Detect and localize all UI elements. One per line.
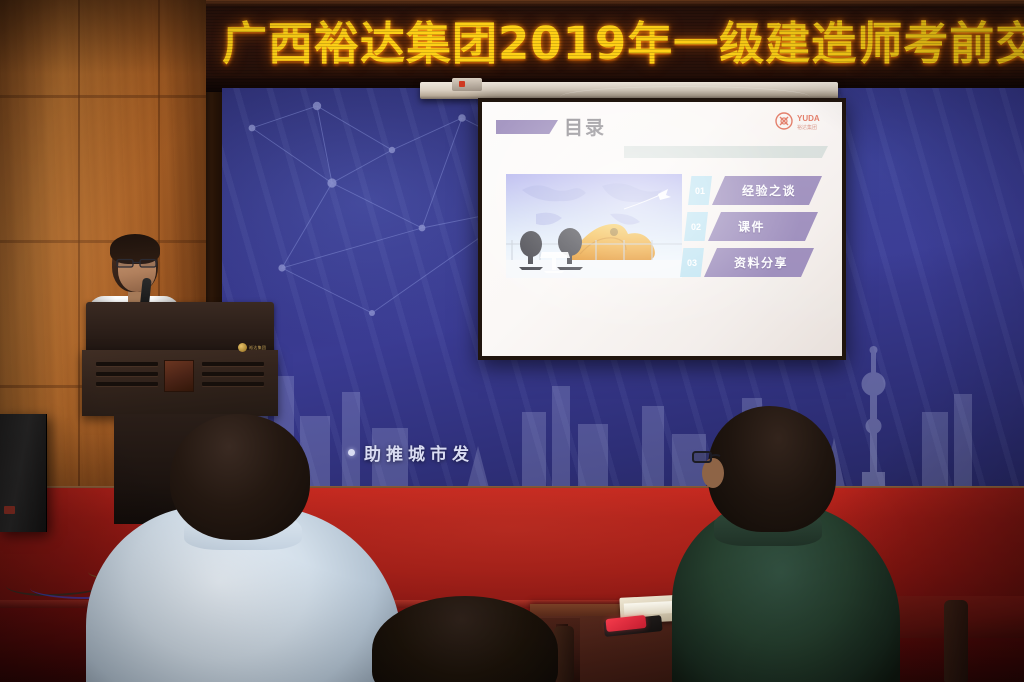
- attendee-right-head: [708, 406, 836, 532]
- led-banner: 广西裕达集团2019年一级建造师考前交流: [206, 0, 1024, 92]
- attendee-center: [372, 596, 558, 682]
- led-banner-text: 广西裕达集团2019年一级建造师考前交流: [222, 5, 1024, 83]
- attendee-left-head: [170, 414, 310, 540]
- slide-toc-item: 03 资料分享: [680, 248, 814, 277]
- slide-toc-item-label: 资料分享: [704, 248, 814, 277]
- slide-decorative-band: [624, 146, 828, 158]
- attendee-left: [86, 414, 402, 682]
- loudspeaker-cabinet: [0, 414, 47, 532]
- podium-emblem-mark-icon: [238, 343, 247, 352]
- attendee-right: [672, 406, 902, 682]
- loudspeaker-badge: [4, 506, 15, 514]
- projection-screen: 目录 YUDA 裕达集团: [478, 98, 846, 360]
- slide-title-accent-bar: [496, 120, 558, 134]
- slide-toc-item-label: 经验之谈: [712, 176, 822, 205]
- svg-text:裕达集团: 裕达集团: [797, 124, 817, 131]
- slide-toc-item-number: 03: [680, 248, 704, 277]
- screen-control-box[interactable]: [452, 78, 482, 91]
- chair-back: [944, 600, 968, 682]
- glasses-icon: [116, 258, 158, 268]
- glasses-icon: [692, 450, 736, 464]
- slide-toc-item: 02 课件: [684, 212, 818, 241]
- slide-toc-item-number: 01: [688, 176, 712, 205]
- slide-toc-item: 01 经验之谈: [688, 176, 822, 205]
- conference-room-scene: 广西裕达集团2019年一级建造师考前交流: [0, 0, 1024, 682]
- attendee-center-head: [372, 596, 558, 682]
- presentation-slide: 目录 YUDA 裕达集团: [482, 102, 842, 356]
- podium-emblem: 裕达集团: [238, 342, 268, 353]
- slide-toc-item-label: 课件: [708, 212, 818, 241]
- slide-toc-item-number: 02: [684, 212, 708, 241]
- projection-screen-surface: 目录 YUDA 裕达集团: [482, 102, 842, 356]
- yuda-logo-icon: YUDA 裕达集团: [774, 112, 832, 132]
- slide-title: 目录: [564, 113, 606, 140]
- slide-photo: [506, 174, 682, 278]
- podium-emblem-text: 裕达集团: [249, 345, 266, 351]
- podium-plaque: [164, 360, 194, 392]
- svg-text:YUDA: YUDA: [797, 114, 820, 123]
